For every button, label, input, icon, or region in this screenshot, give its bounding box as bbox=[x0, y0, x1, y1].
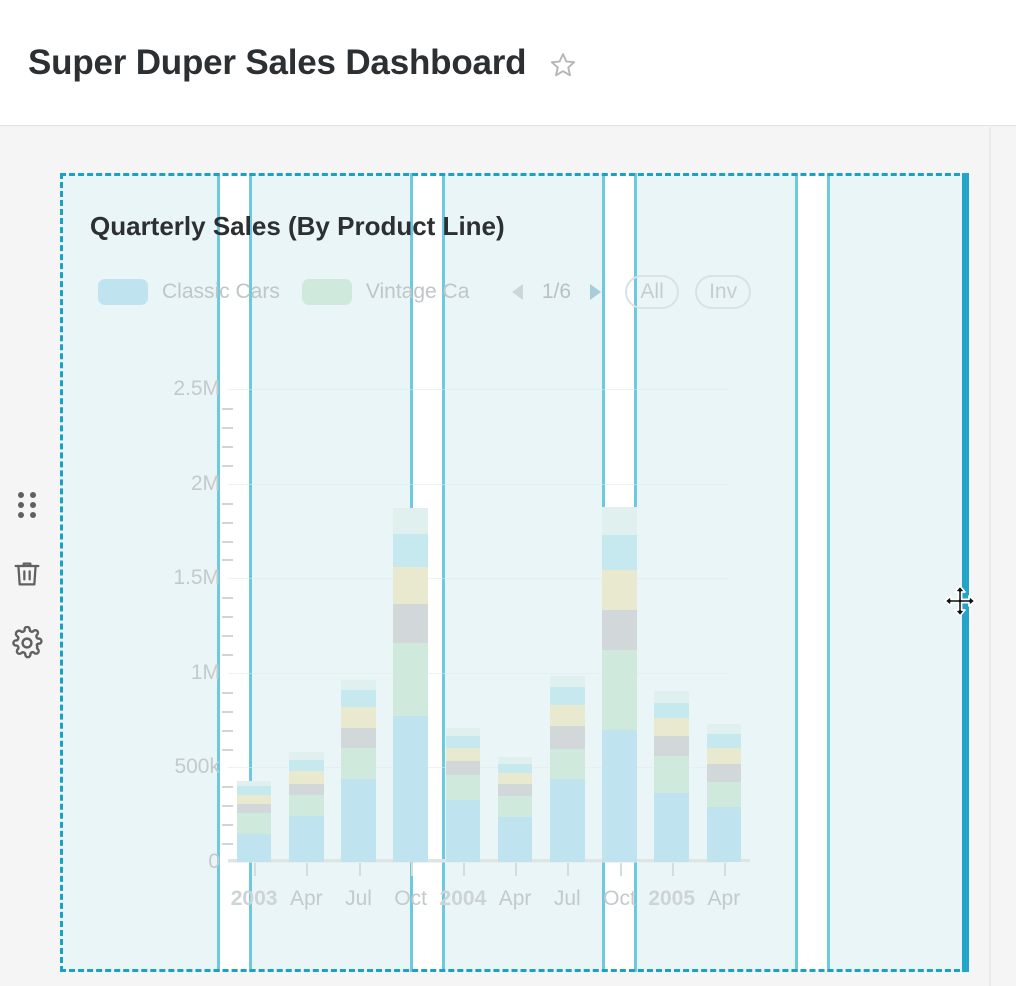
bar-segment[interactable] bbox=[289, 752, 323, 760]
bar-segment[interactable] bbox=[654, 756, 688, 793]
y-axis-minor-tick bbox=[222, 522, 233, 524]
bar-segment[interactable] bbox=[498, 764, 532, 773]
x-axis-tick-label: 2003 bbox=[231, 887, 278, 911]
y-axis-minor-tick bbox=[222, 730, 233, 732]
bar-segment[interactable] bbox=[289, 784, 323, 795]
bar-stack[interactable] bbox=[289, 752, 323, 862]
move-resize-cursor bbox=[943, 584, 977, 618]
bar-segment[interactable] bbox=[393, 604, 427, 643]
star-icon[interactable] bbox=[548, 50, 578, 80]
chart-toolbar: Classic Cars Vintage Ca 1/6 All Inv bbox=[98, 274, 751, 310]
bar-segment[interactable] bbox=[550, 676, 584, 687]
bar-segment[interactable] bbox=[498, 784, 532, 796]
bar-segment[interactable] bbox=[393, 716, 427, 862]
bar-segment[interactable] bbox=[654, 793, 688, 862]
x-axis-tick bbox=[411, 863, 413, 876]
bar-segment[interactable] bbox=[602, 570, 636, 610]
bar-segment[interactable] bbox=[237, 786, 271, 795]
bar-segment[interactable] bbox=[237, 813, 271, 834]
bar-segment[interactable] bbox=[707, 748, 741, 764]
bar-stack[interactable] bbox=[707, 724, 741, 862]
widget-resize-handle-right[interactable] bbox=[962, 173, 969, 972]
x-axis-tick-label: Apr bbox=[290, 887, 323, 911]
bar-segment[interactable] bbox=[393, 508, 427, 534]
y-axis-minor-tick bbox=[222, 635, 233, 637]
y-axis-tick-label: 1M bbox=[191, 661, 220, 685]
x-axis-tick bbox=[515, 863, 517, 876]
bar-segment[interactable] bbox=[654, 718, 688, 736]
bar-segment[interactable] bbox=[602, 610, 636, 651]
bar-segment[interactable] bbox=[289, 795, 323, 816]
bar-segment[interactable] bbox=[550, 779, 584, 862]
x-axis-tick-label: Oct bbox=[603, 887, 636, 911]
bar-segment[interactable] bbox=[654, 736, 688, 756]
x-axis-tick bbox=[620, 863, 622, 876]
bar-segment[interactable] bbox=[654, 691, 688, 703]
bar-stack[interactable] bbox=[550, 676, 584, 862]
gridline bbox=[228, 484, 728, 485]
grid-guide-active bbox=[795, 173, 798, 972]
y-axis-tick-label: 2M bbox=[191, 472, 220, 496]
delete-icon[interactable] bbox=[10, 557, 44, 591]
x-axis-tick-label: Jul bbox=[554, 887, 581, 911]
y-axis-minor-tick bbox=[222, 805, 233, 807]
bar-segment[interactable] bbox=[602, 730, 636, 862]
bar-segment[interactable] bbox=[446, 748, 480, 761]
grid-guide bbox=[989, 127, 991, 986]
bar-segment[interactable] bbox=[498, 817, 532, 862]
bar-segment[interactable] bbox=[446, 728, 480, 737]
y-axis-tick-label: 0 bbox=[208, 850, 220, 874]
y-axis-minor-tick bbox=[222, 597, 233, 599]
bar-stack[interactable] bbox=[341, 680, 375, 862]
bar-segment[interactable] bbox=[707, 724, 741, 734]
bar-segment[interactable] bbox=[289, 760, 323, 771]
bar-segment[interactable] bbox=[707, 807, 741, 862]
widget-title: Quarterly Sales (By Product Line) bbox=[90, 211, 505, 242]
bar-segment[interactable] bbox=[289, 771, 323, 783]
y-axis-minor-tick bbox=[222, 711, 233, 713]
y-axis-minor-tick bbox=[222, 786, 233, 788]
bar-stack[interactable] bbox=[654, 691, 688, 862]
bar-segment[interactable] bbox=[393, 643, 427, 717]
y-axis-minor-tick bbox=[222, 503, 233, 505]
bar-segment[interactable] bbox=[550, 749, 584, 779]
legend-item-classic-cars[interactable]: Classic Cars bbox=[98, 279, 280, 305]
y-axis-minor-tick bbox=[222, 541, 233, 543]
y-axis-tick-label: 1.5M bbox=[173, 566, 220, 590]
bar-segment[interactable] bbox=[237, 834, 271, 862]
gridline bbox=[228, 578, 728, 579]
x-axis-tick-label: Apr bbox=[499, 887, 532, 911]
x-axis-tick bbox=[359, 863, 361, 876]
y-axis-tick-label: 2.5M bbox=[173, 377, 220, 401]
settings-icon[interactable] bbox=[10, 626, 44, 660]
chart-plot-area: 0500k1M1.5M2M2.5M2003AprJulOct2004AprJul… bbox=[150, 330, 750, 875]
bar-segment[interactable] bbox=[550, 705, 584, 726]
bar-segment[interactable] bbox=[446, 736, 480, 747]
y-axis-minor-tick bbox=[222, 824, 233, 826]
y-axis-minor-tick bbox=[222, 843, 233, 845]
x-axis-tick bbox=[724, 863, 726, 876]
y-axis-minor-tick bbox=[222, 559, 233, 561]
legend-all-button[interactable]: All bbox=[625, 275, 679, 309]
legend-item-vintage-cars[interactable]: Vintage Ca bbox=[302, 279, 486, 305]
grid-gutter bbox=[798, 173, 829, 972]
legend-pager: 1/6 bbox=[504, 277, 609, 307]
gridline bbox=[228, 862, 728, 863]
x-axis-tick-label: Apr bbox=[708, 887, 741, 911]
bar-segment[interactable] bbox=[550, 726, 584, 749]
bar-segment[interactable] bbox=[237, 795, 271, 804]
y-axis-minor-tick bbox=[222, 749, 233, 751]
bar-segment[interactable] bbox=[341, 728, 375, 748]
y-axis-minor-tick bbox=[222, 616, 233, 618]
page-title: Super Duper Sales Dashboard bbox=[28, 43, 526, 83]
bar-segment[interactable] bbox=[707, 782, 741, 808]
chevron-left-icon[interactable] bbox=[504, 277, 534, 307]
x-axis-tick-label: Oct bbox=[394, 887, 427, 911]
bar-segment[interactable] bbox=[550, 687, 584, 705]
bar-stack[interactable] bbox=[446, 728, 480, 862]
bar-segment[interactable] bbox=[393, 567, 427, 604]
y-axis-minor-tick bbox=[222, 654, 233, 656]
y-axis-minor-tick bbox=[222, 692, 233, 694]
legend-swatch bbox=[98, 279, 148, 305]
legend-label: Vintage Ca bbox=[366, 280, 486, 304]
bar-stack[interactable] bbox=[498, 757, 532, 862]
gridline bbox=[228, 673, 728, 674]
bar-stack[interactable] bbox=[602, 507, 636, 862]
bar-segment[interactable] bbox=[341, 690, 375, 707]
bar-segment[interactable] bbox=[602, 650, 636, 729]
bar-segment[interactable] bbox=[393, 534, 427, 567]
bar-segment[interactable] bbox=[289, 816, 323, 862]
x-axis-tick bbox=[672, 863, 674, 876]
bar-segment[interactable] bbox=[707, 764, 741, 782]
y-axis-minor-tick bbox=[222, 465, 233, 467]
bar-segment[interactable] bbox=[602, 507, 636, 535]
bar-segment[interactable] bbox=[602, 535, 636, 570]
x-axis-tick-label: 2005 bbox=[648, 887, 695, 911]
y-axis-tick-label: 500k bbox=[174, 755, 220, 779]
bar-segment[interactable] bbox=[446, 800, 480, 862]
x-axis-tick-label: 2004 bbox=[440, 887, 487, 911]
page-header: Super Duper Sales Dashboard bbox=[0, 0, 1016, 126]
drag-handle-icon[interactable] bbox=[10, 488, 44, 522]
x-axis-tick bbox=[567, 863, 569, 876]
bar-segment[interactable] bbox=[498, 757, 532, 764]
bar-segment[interactable] bbox=[341, 779, 375, 862]
widget-tool-rail bbox=[8, 488, 46, 660]
pager-count: 1/6 bbox=[542, 280, 571, 304]
bar-segment[interactable] bbox=[341, 707, 375, 728]
y-axis-minor-tick bbox=[222, 408, 233, 410]
x-axis-tick-label: Jul bbox=[345, 887, 372, 911]
x-axis-tick bbox=[306, 863, 308, 876]
gridline bbox=[228, 389, 728, 390]
x-axis-tick bbox=[463, 863, 465, 876]
x-axis-tick bbox=[254, 863, 256, 876]
bar-segment[interactable] bbox=[446, 761, 480, 775]
bar-segment[interactable] bbox=[498, 773, 532, 783]
bar-segment[interactable] bbox=[498, 796, 532, 817]
y-axis-minor-tick bbox=[222, 427, 233, 429]
bar-segment[interactable] bbox=[341, 680, 375, 690]
legend-invert-button[interactable]: Inv bbox=[695, 275, 751, 309]
bar-segment[interactable] bbox=[341, 748, 375, 779]
bar-segment[interactable] bbox=[237, 804, 271, 813]
grid-guide-active bbox=[827, 173, 830, 972]
bar-segment[interactable] bbox=[446, 775, 480, 800]
bar-stack[interactable] bbox=[237, 781, 271, 862]
bar-segment[interactable] bbox=[654, 703, 688, 718]
bar-segment[interactable] bbox=[707, 734, 741, 747]
chevron-right-icon[interactable] bbox=[579, 277, 609, 307]
y-axis-minor-tick bbox=[222, 446, 233, 448]
legend-label: Classic Cars bbox=[162, 280, 280, 304]
bar-stack[interactable] bbox=[393, 508, 427, 862]
legend-swatch bbox=[302, 279, 352, 305]
